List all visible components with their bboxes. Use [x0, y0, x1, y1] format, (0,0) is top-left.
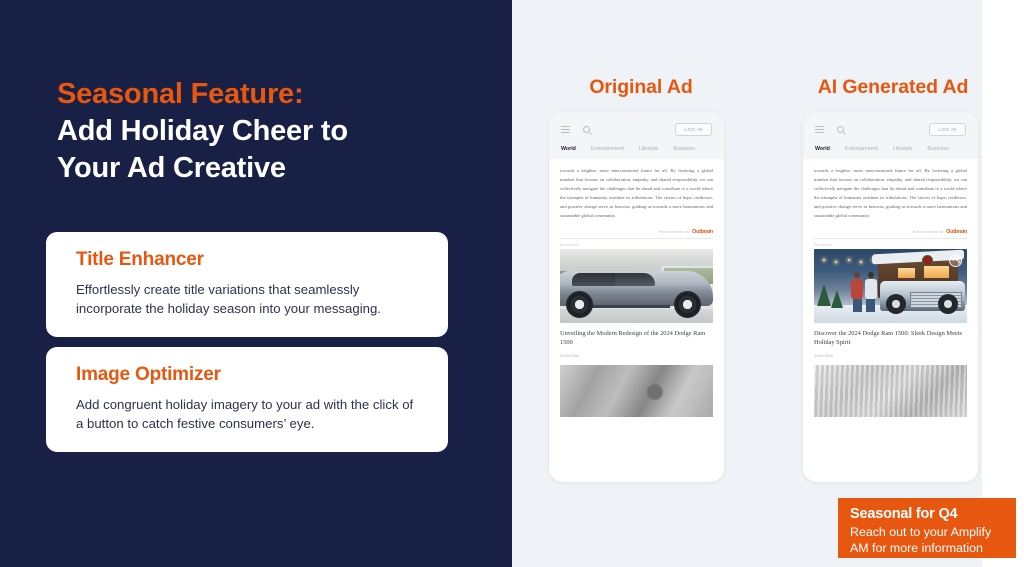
ad-headline-ai-generated[interactable]: Discover the 2024 Dodge Ram 1500: Sleek …: [814, 329, 967, 348]
nav-tab-world[interactable]: World: [561, 146, 576, 152]
nav-tab-entertainment[interactable]: Entertainment: [591, 146, 624, 152]
site-nav-bar: LOG IN World Entertainment Lifestyle Bus…: [803, 112, 978, 159]
ad-source-ai-generated: SeekerHub: [814, 353, 967, 358]
search-icon[interactable]: [837, 126, 844, 133]
nav-tab-business[interactable]: Business: [673, 146, 695, 152]
secondary-ad-image-original[interactable]: [560, 365, 713, 417]
nav-tab-lifestyle[interactable]: Lifestyle: [893, 146, 912, 152]
ad-source-original: SeekerHub: [560, 353, 713, 358]
recommended-by-label: Recommended by: [913, 230, 943, 234]
phone-mockup-ai-generated-ad: LOG IN World Entertainment Lifestyle Bus…: [803, 112, 978, 482]
secondary-ad-image-ai-generated[interactable]: [814, 365, 967, 417]
feature-card-title-enhancer[interactable]: Title Enhancer Effortlessly create title…: [46, 232, 448, 337]
search-icon[interactable]: [583, 126, 590, 133]
recommended-by-label: Recommended by: [659, 230, 689, 234]
feature-card-image-optimizer[interactable]: Image Optimizer Add congruent holiday im…: [46, 347, 448, 452]
title-line-1: Seasonal Feature:: [57, 76, 477, 113]
feature-card-title: Image Optimizer: [76, 364, 418, 386]
hamburger-menu-icon[interactable]: [815, 126, 824, 133]
title-line-3: Your Ad Creative: [57, 150, 477, 187]
hamburger-menu-icon[interactable]: [561, 126, 570, 133]
phone-mockup-original-ad: LOG IN World Entertainment Lifestyle Bus…: [549, 112, 724, 482]
article-content: towards a brighter, more interconnected …: [803, 159, 978, 417]
nav-tab-world[interactable]: World: [815, 146, 830, 152]
article-body-text: towards a brighter, more interconnected …: [814, 167, 967, 221]
nav-tabs: World Entertainment Lifestyle Business: [561, 146, 712, 152]
login-button[interactable]: LOG IN: [929, 123, 966, 136]
sponsored-label: Sponsored: [814, 243, 967, 247]
article-body-text: towards a brighter, more interconnected …: [560, 167, 713, 221]
ad-headline-original[interactable]: Unveiling the Modern Redesign of the 202…: [560, 329, 713, 348]
feature-card-title: Title Enhancer: [76, 249, 418, 271]
column-title-original-ad: Original Ad: [541, 76, 741, 99]
ad-image-ai-generated[interactable]: AI: [814, 249, 967, 323]
nav-tab-business[interactable]: Business: [927, 146, 949, 152]
feature-card-body: Effortlessly create title variations tha…: [76, 280, 418, 319]
title-line-2: Add Holiday Cheer to: [57, 113, 477, 150]
login-button[interactable]: LOG IN: [675, 123, 712, 136]
ad-image-original[interactable]: [560, 249, 713, 323]
feature-card-list: Title Enhancer Effortlessly create title…: [46, 232, 448, 462]
nav-tab-lifestyle[interactable]: Lifestyle: [639, 146, 658, 152]
nav-tab-entertainment[interactable]: Entertainment: [845, 146, 878, 152]
callout-body: Reach out to your Amplify AM for more in…: [850, 524, 1004, 557]
column-title-ai-generated-ad: AI Generated Ad: [793, 76, 993, 99]
slide-canvas: Seasonal Feature: Add Holiday Cheer to Y…: [0, 0, 1024, 567]
callout-title: Seasonal for Q4: [850, 506, 1004, 522]
outbrain-widget-header: Recommended by Outbrain: [560, 229, 713, 239]
feature-card-body: Add congruent holiday imagery to your ad…: [76, 395, 418, 434]
outbrain-logo: Outbrain: [946, 229, 967, 235]
outbrain-logo: Outbrain: [692, 229, 713, 235]
nav-tabs: World Entertainment Lifestyle Business: [815, 146, 966, 152]
page-title: Seasonal Feature: Add Holiday Cheer to Y…: [57, 76, 477, 187]
site-nav-bar: LOG IN World Entertainment Lifestyle Bus…: [549, 112, 724, 159]
outbrain-widget-header: Recommended by Outbrain: [814, 229, 967, 239]
sponsored-label: Sponsored: [560, 243, 713, 247]
seasonal-callout-box: Seasonal for Q4 Reach out to your Amplif…: [838, 498, 1016, 558]
ai-badge: AI: [949, 254, 962, 267]
article-content: towards a brighter, more interconnected …: [549, 159, 724, 417]
